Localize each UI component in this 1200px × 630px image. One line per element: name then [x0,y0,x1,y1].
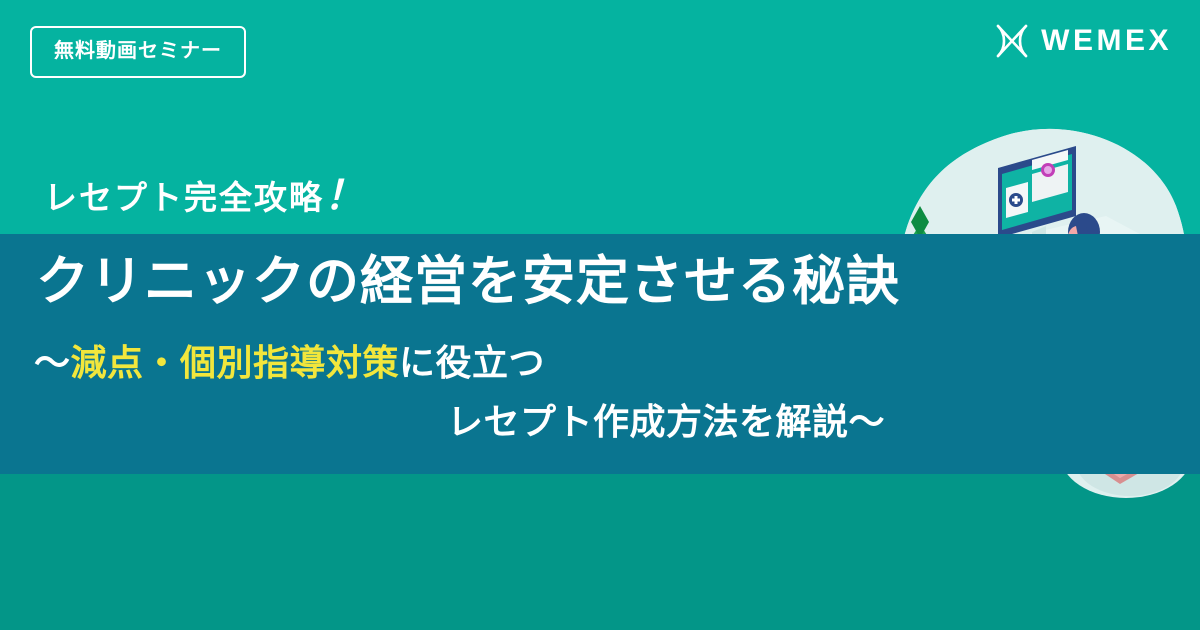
kicker-exclamation: ！ [324,174,366,218]
subtitle-prefix: 〜 [34,342,71,383]
wemex-logo: WEMEX [994,24,1172,58]
banner-stage: 無料動画セミナー WEMEX レセプト完全攻略！ クリニックの経営を安定させる秘… [0,0,1200,630]
subtitle-line-1: 〜減点・個別指導対策に役立つ [34,345,545,381]
subtitle-line-2: レセプト作成方法を解説〜 [447,404,885,440]
kicker-text: レセプト完全攻略！ [44,176,366,216]
subtitle-suffix: に役立つ [399,342,545,383]
wemex-x-mark [994,24,1030,58]
kicker-label: レセプト完全攻略 [44,179,324,216]
subtitle-highlight: 減点・個別指導対策 [71,342,400,383]
page-title: クリニックの経営を安定させる秘訣 [36,255,900,308]
wemex-logo-text: WEMEX [1041,26,1172,56]
seminar-badge: 無料動画セミナー [30,26,246,78]
